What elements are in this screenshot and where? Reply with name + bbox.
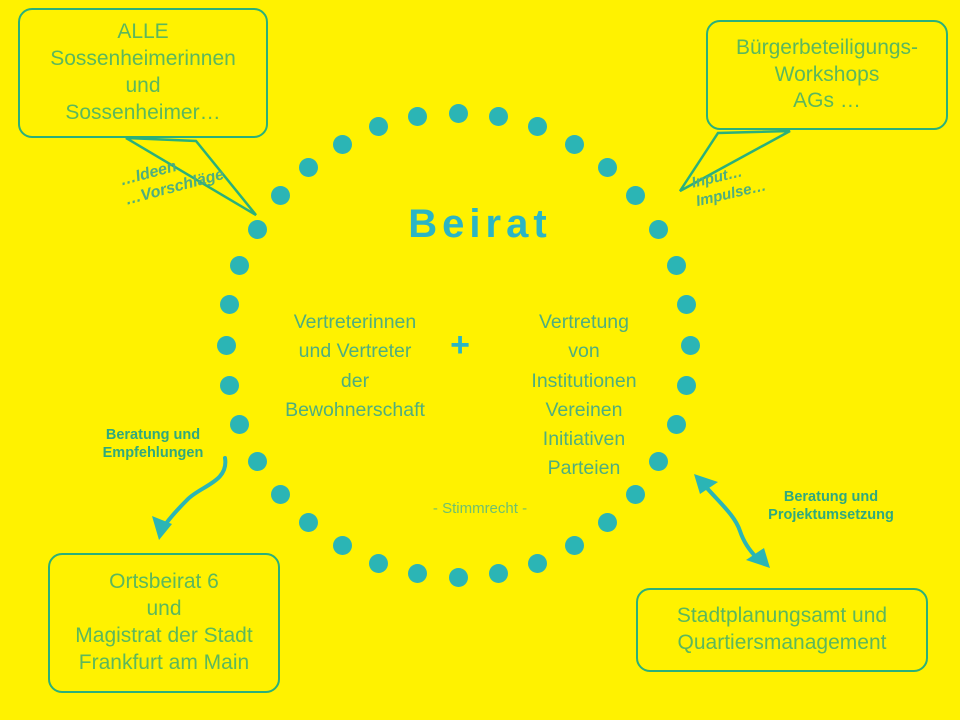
beirat-title: Beirat (0, 202, 960, 247)
box-stadtplanungsamt[interactable]: Stadtplanungsamt und Quartiersmanagement (636, 588, 928, 672)
circle-dot (333, 536, 352, 555)
circle-dot (408, 564, 427, 583)
circle-dot (489, 107, 508, 126)
circle-dot (598, 158, 617, 177)
box-ortsbeirat-magistrat[interactable]: Ortsbeirat 6 und Magistrat der Stadt Fra… (48, 553, 280, 693)
circle-dot (565, 135, 584, 154)
circle-dot (333, 135, 352, 154)
bubble-alle-text: ALLE Sossenheimerinnen und Sossenheimer… (30, 19, 256, 127)
circle-dot (449, 104, 468, 123)
box-stadtplanung-text: Stadtplanungsamt und Quartiersmanagement (648, 603, 916, 657)
circle-dot (565, 536, 584, 555)
plus-icon: + (440, 328, 480, 362)
label-beratung-projektumsetzung: Beratung und Projektumsetzung (746, 488, 916, 524)
circle-dot (667, 256, 686, 275)
bubble-alle-sossenheimer[interactable]: ALLE Sossenheimerinnen und Sossenheimer… (18, 8, 268, 138)
circle-dot (408, 107, 427, 126)
circle-dot (230, 415, 249, 434)
diagram-canvas: ALLE Sossenheimerinnen und Sossenheimer…… (0, 0, 960, 720)
circle-dot (449, 568, 468, 587)
circle-dot (248, 452, 267, 471)
circle-dot (220, 295, 239, 314)
label-beratung-empfehlungen: Beratung und Empfehlungen (78, 426, 228, 462)
circle-dot (528, 554, 547, 573)
circle-dot (217, 336, 236, 355)
circle-dot (369, 117, 388, 136)
box-ortsbeirat-text: Ortsbeirat 6 und Magistrat der Stadt Fra… (60, 569, 268, 677)
bubble-buergerbeteiligung[interactable]: Bürgerbeteiligungs- Workshops AGs … (706, 20, 948, 130)
circle-dot (528, 117, 547, 136)
circle-dot (489, 564, 508, 583)
beirat-members-residents: Vertreterinnen und Vertreter der Bewohne… (258, 308, 452, 425)
circle-dot (230, 256, 249, 275)
circle-dot (681, 336, 700, 355)
beirat-members-institutions: Vertretung von Institutionen Vereinen In… (487, 308, 681, 484)
circle-dot (299, 158, 318, 177)
circle-dot (220, 376, 239, 395)
circle-dot (369, 554, 388, 573)
bubble-workshops-text: Bürgerbeteiligungs- Workshops AGs … (718, 35, 936, 116)
